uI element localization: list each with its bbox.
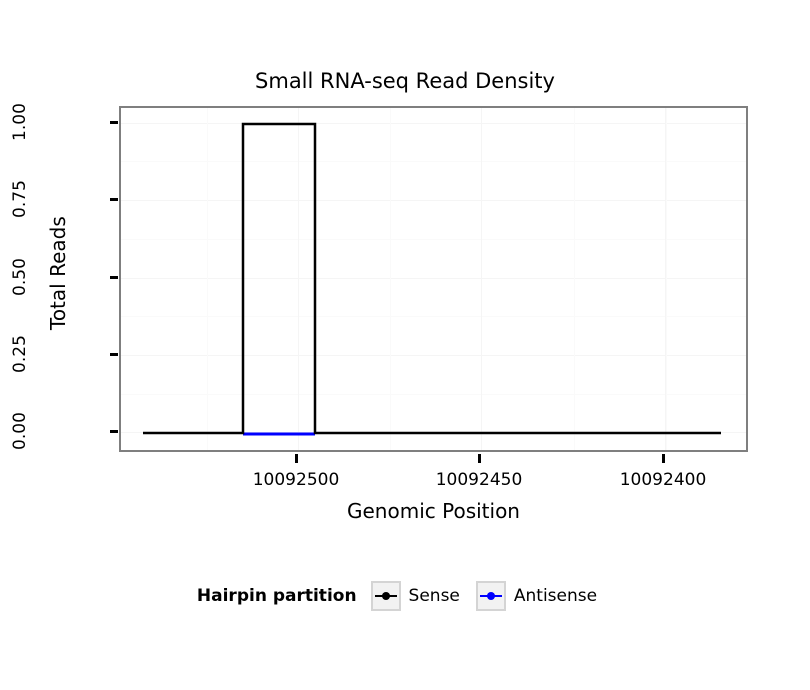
line-dot-icon xyxy=(382,592,390,600)
legend-label-antisense: Antisense xyxy=(514,586,597,606)
y-tick-mark xyxy=(110,198,118,201)
y-tick-label: 1.00 xyxy=(11,92,29,152)
x-tick-label: 10092400 xyxy=(593,470,733,490)
y-tick-label: 0.25 xyxy=(11,324,29,384)
y-tick-mark xyxy=(110,276,118,279)
line-dot-icon xyxy=(487,592,495,600)
x-tick-mark xyxy=(662,454,665,463)
y-tick-mark xyxy=(110,121,118,124)
y-tick-label: 0.50 xyxy=(11,247,29,307)
data-series-layer xyxy=(121,108,746,450)
y-tick-label: 0.00 xyxy=(11,401,29,461)
legend-title: Hairpin partition xyxy=(197,586,357,606)
chart-legend: Hairpin partition Sense Antisense xyxy=(0,579,810,613)
legend-key-sense xyxy=(371,581,401,611)
x-tick-mark xyxy=(295,454,298,463)
legend-entry-sense[interactable]: Sense xyxy=(371,581,460,611)
legend-label-sense: Sense xyxy=(409,586,460,606)
y-tick-label: 0.75 xyxy=(11,169,29,229)
plot-panel xyxy=(119,106,748,452)
x-tick-label: 10092450 xyxy=(409,470,549,490)
y-tick-mark xyxy=(110,430,118,433)
x-tick-label: 10092500 xyxy=(226,470,366,490)
chart-figure: Small RNA-seq Read Density Total Reads 1… xyxy=(0,0,810,690)
y-axis-title: Total Reads xyxy=(47,250,69,330)
y-tick-mark xyxy=(110,353,118,356)
legend-key-antisense xyxy=(476,581,506,611)
chart-title: Small RNA-seq Read Density xyxy=(0,68,810,94)
x-axis-title: Genomic Position xyxy=(119,499,748,523)
series-line-sense xyxy=(143,124,721,433)
legend-entry-antisense[interactable]: Antisense xyxy=(476,581,597,611)
x-tick-mark xyxy=(478,454,481,463)
